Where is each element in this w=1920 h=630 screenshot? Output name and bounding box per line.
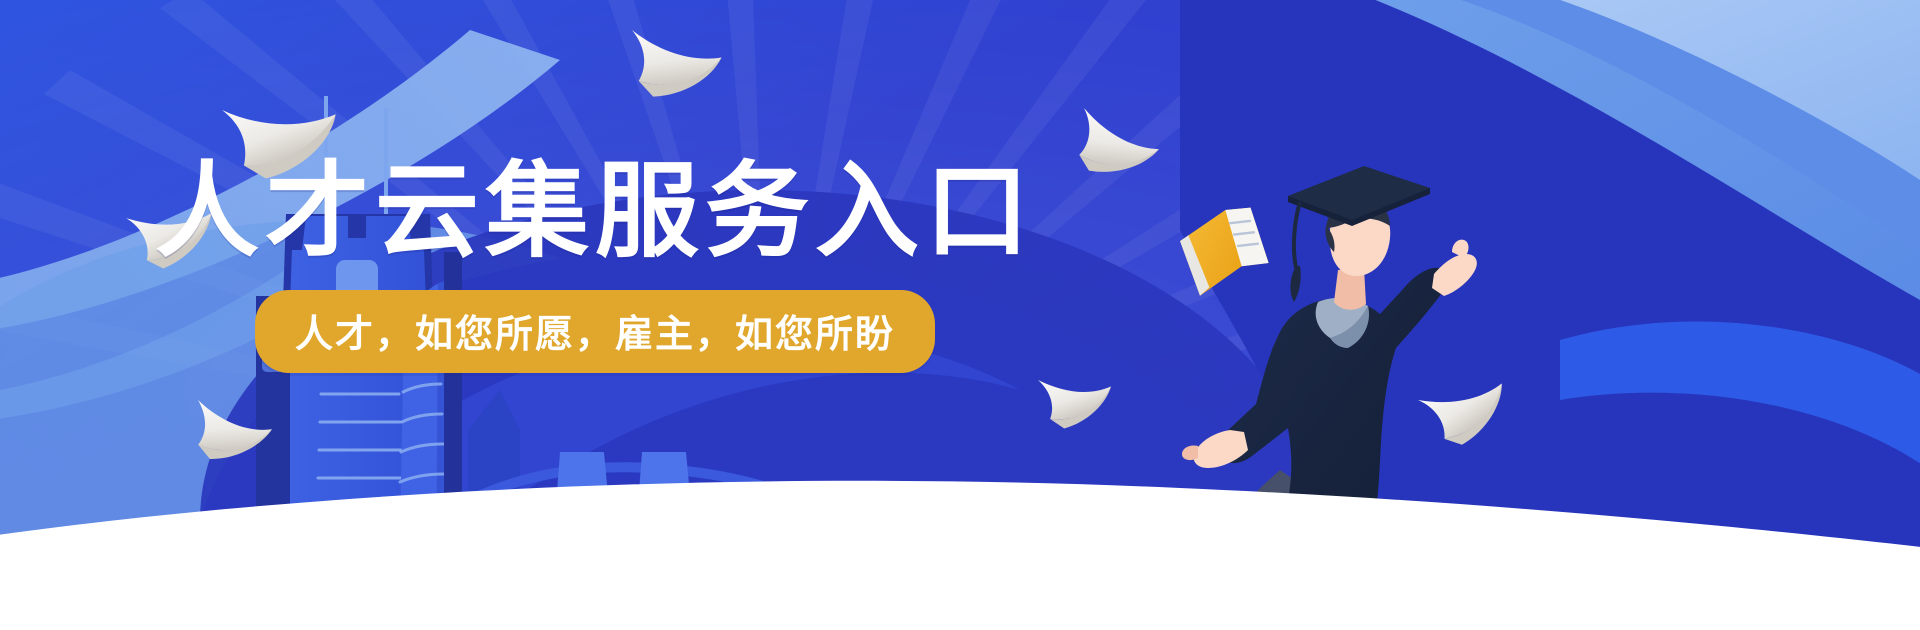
bottom-white-curve [0,0,1920,630]
recruitment-banner: 人才云集服务入口 人才，如您所愿，雇主，如您所盼 [0,0,1920,630]
